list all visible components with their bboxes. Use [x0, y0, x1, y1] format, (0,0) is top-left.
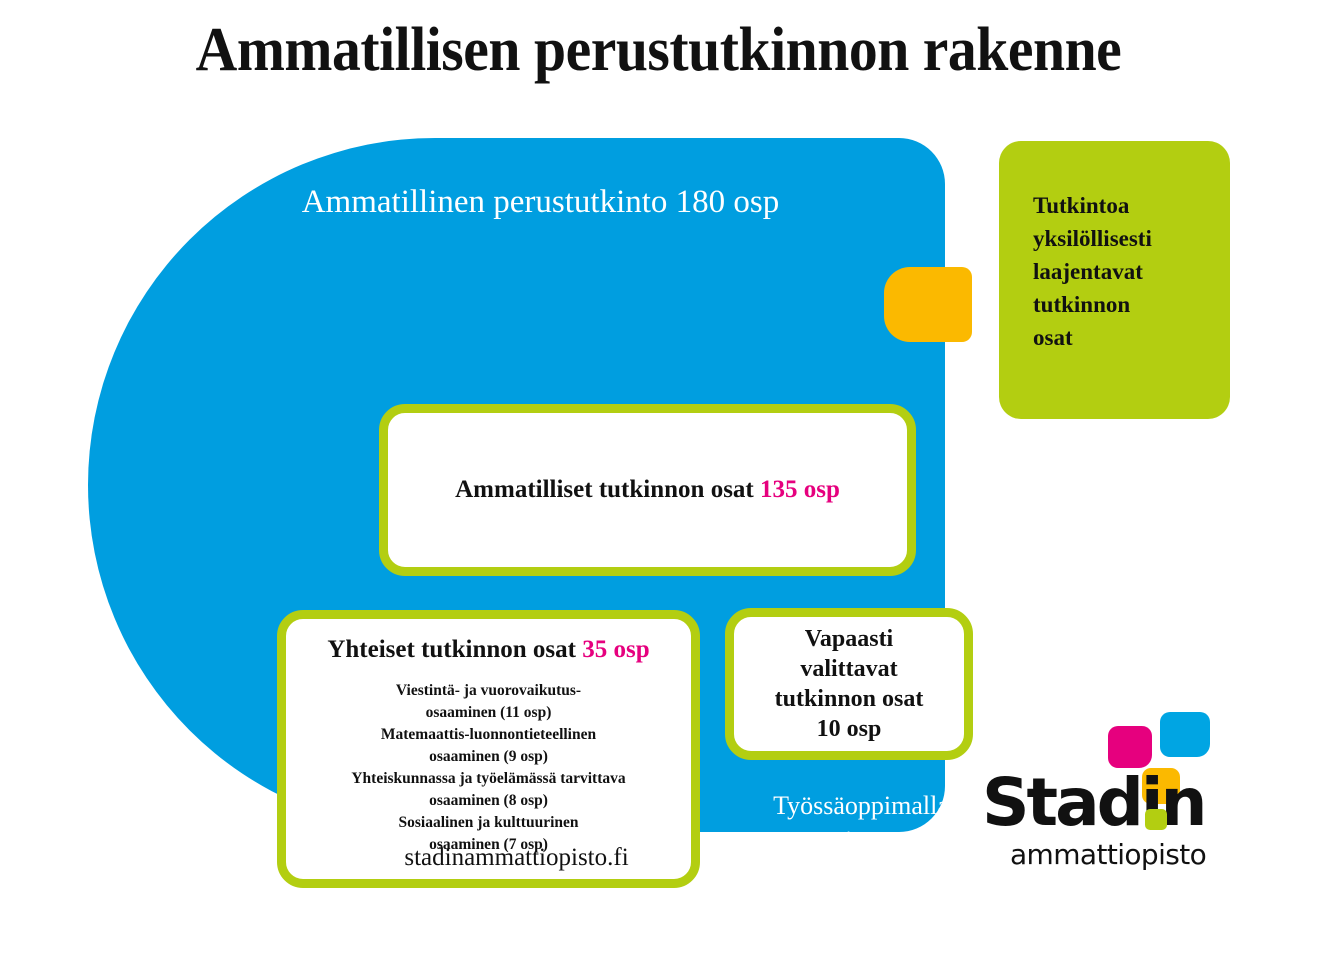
free-choice-line-1: Vapaasti — [805, 624, 893, 654]
subject-line: osaaminen (11 osp) — [302, 702, 675, 724]
vocational-units-box: Ammatilliset tutkinnon osat 135 osp — [379, 404, 916, 576]
logo-square-magenta-icon — [1108, 726, 1152, 768]
logo-square-cyan-icon — [1160, 712, 1210, 757]
common-units-label: Yhteiset tutkinnon osat — [327, 636, 576, 663]
logo-wordmark: Stadin — [982, 764, 1240, 842]
workplace-learning-line-1: Työssäoppimalla — [716, 788, 1006, 823]
stadin-ammattiopisto-logo: Stadin ammattiopisto — [982, 706, 1240, 878]
extension-units-panel: Tutkintoa yksilöllisesti laajentavat tut… — [999, 141, 1230, 419]
page-title: Ammatillisen perustutkinnon rakenne — [46, 14, 1271, 86]
extension-line-4: tutkinnon — [1033, 288, 1230, 321]
common-units-amount: 35 osp — [582, 636, 649, 663]
subject-line: osaaminen (9 osp) — [302, 746, 675, 768]
subject-line: Viestintä- ja vuorovaikutus- — [302, 680, 675, 702]
extension-line-5: osat — [1033, 321, 1230, 354]
subject-line: Sosiaalinen ja kulttuurinen — [302, 812, 675, 834]
vocational-units-amount: 135 osp — [760, 476, 840, 503]
degree-heading: Ammatillinen perustutkinto 180 osp — [88, 183, 945, 221]
subject-line: osaaminen (8 osp) — [302, 790, 675, 812]
free-choice-amount: 10 osp — [817, 714, 882, 744]
logo-square-green-icon — [1145, 809, 1167, 830]
subject-line: Yhteiskunnassa ja työelämässä tarvittava — [302, 768, 675, 790]
footer-url[interactable]: stadinammattiopisto.fi — [88, 843, 945, 873]
connector-tab — [884, 267, 972, 342]
extension-line-2: yksilöllisesti — [1033, 222, 1230, 255]
vocational-units-title: Ammatilliset tutkinnon osat 135 osp — [455, 475, 840, 505]
free-choice-units-box: Vapaasti valittavat tutkinnon osat 10 os… — [725, 608, 973, 760]
vocational-units-label: Ammatilliset tutkinnon osat — [455, 476, 754, 503]
free-choice-line-3: tutkinnon osat — [775, 684, 924, 714]
common-units-title: Yhteiset tutkinnon osat 35 osp — [302, 634, 675, 666]
workplace-learning-note: Työssäoppimalla suoritettava vähintään 3… — [716, 788, 1006, 893]
extension-line-3: laajentavat — [1033, 255, 1230, 288]
extension-line-1: Tutkintoa — [1033, 189, 1230, 222]
free-choice-line-2: valittavat — [800, 654, 897, 684]
common-units-subject-list: Viestintä- ja vuorovaikutus- osaaminen (… — [302, 680, 675, 856]
subject-line: Matemaattis-luonnontieteellinen — [302, 724, 675, 746]
degree-container: Ammatillinen perustutkinto 180 osp Ammat… — [88, 138, 945, 832]
logo-subword: ammattiopisto — [1010, 838, 1268, 872]
